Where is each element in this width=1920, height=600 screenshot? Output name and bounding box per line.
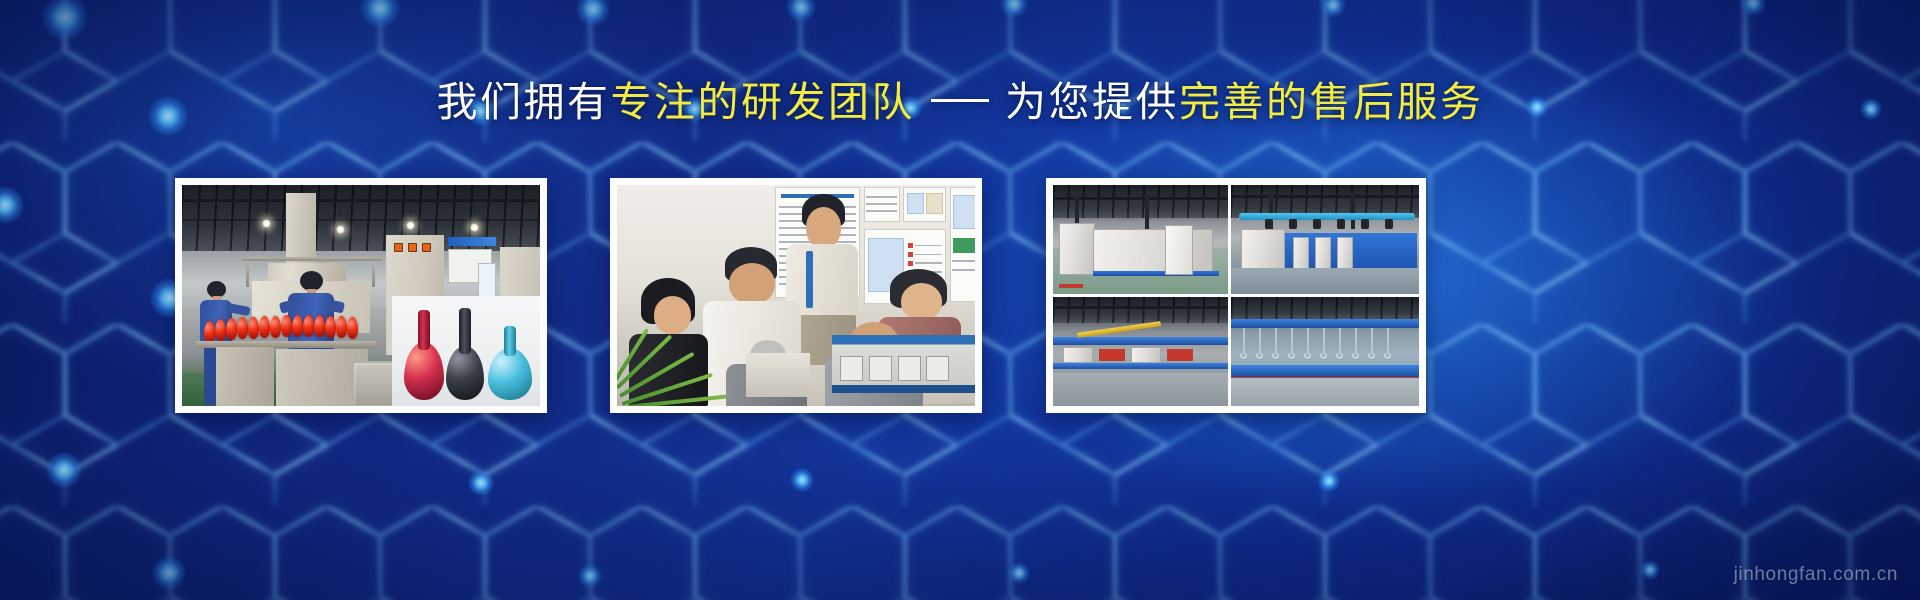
- team-meeting-image: [617, 185, 975, 406]
- collage-quadrant-4: [1231, 297, 1419, 406]
- collage-quadrant-3: [1053, 297, 1228, 406]
- photo-panel-row: [0, 178, 1920, 416]
- headline-segment-1: 我们拥有: [437, 79, 611, 125]
- production-line-photo[interactable]: [175, 178, 547, 413]
- collage-quadrant-2: [1231, 185, 1419, 294]
- headline-segment-2: 专注的研发团队: [611, 79, 916, 125]
- collage-quadrant-1: [1053, 185, 1228, 294]
- headline-segment-5: 的: [1266, 79, 1310, 125]
- factory-collage-photo[interactable]: [1046, 178, 1426, 413]
- headline-segment-3: 为您提供: [1005, 79, 1179, 125]
- headline-segment-6: 售后服务: [1310, 79, 1484, 125]
- glass-vase-inset: [392, 296, 540, 406]
- promo-banner: 我们拥有专注的研发团队为您提供完善的售后服务: [0, 0, 1920, 600]
- headline-segment-4: 完善: [1179, 79, 1266, 125]
- production-line-image: [182, 185, 540, 406]
- team-meeting-photo[interactable]: [610, 178, 982, 413]
- factory-collage-image: [1053, 185, 1419, 406]
- site-watermark: jinhongfan.com.cn: [1734, 564, 1898, 586]
- headline-dash: [931, 99, 989, 102]
- page-title: 我们拥有专注的研发团队为您提供完善的售后服务: [0, 82, 1920, 123]
